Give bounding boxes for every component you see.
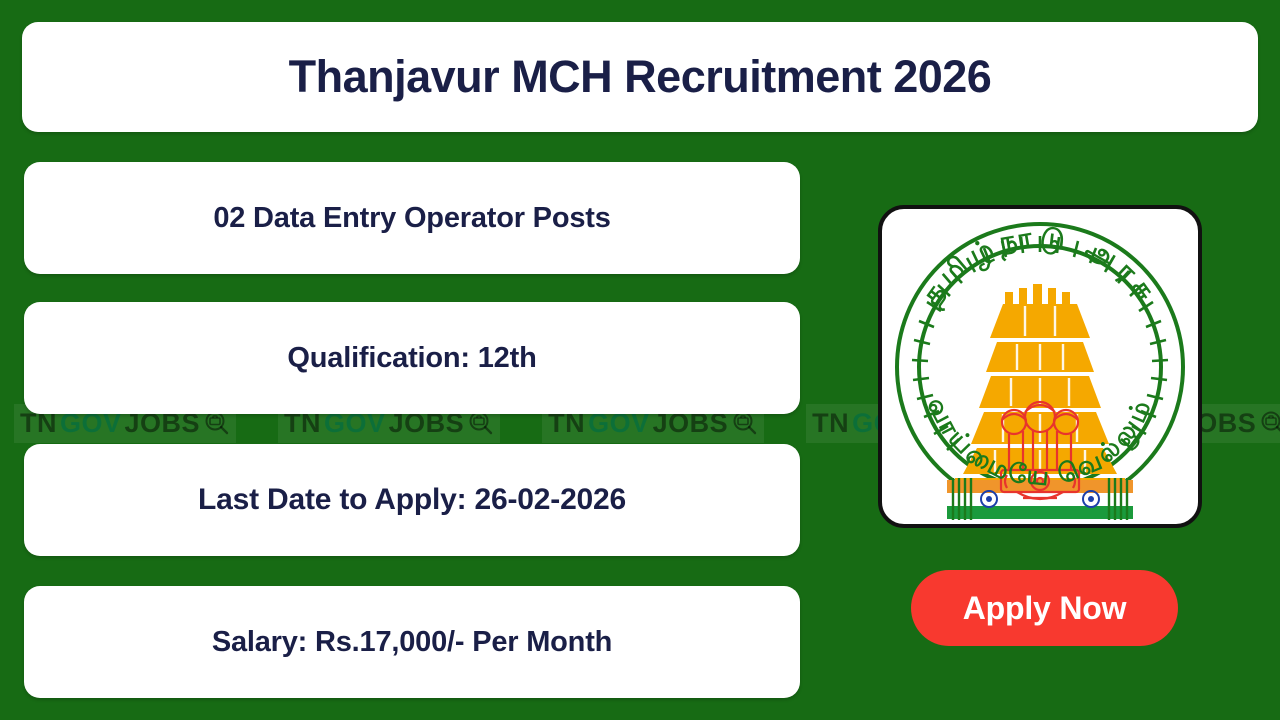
info-card-qualification-label: Qualification: 12th — [271, 342, 552, 375]
title-card: Thanjavur MCH Recruitment 2026 — [22, 22, 1258, 132]
watermark-tn: TN — [812, 408, 849, 439]
info-card-last-date: Last Date to Apply: 26-02-2026 — [24, 444, 800, 556]
tamil-nadu-government-emblem-icon: தமிழ்நாடு அரசு வாய்மையே வெல்லும் — [885, 212, 1195, 522]
info-card-salary-label: Salary: Rs.17,000/- Per Month — [196, 626, 628, 659]
tamil-nadu-emblem-box: தமிழ்நாடு அரசு வாய்மையே வெல்லும் — [878, 205, 1202, 528]
info-card-posts-label: 02 Data Entry Operator Posts — [197, 202, 626, 235]
info-card-salary: Salary: Rs.17,000/- Per Month — [24, 586, 800, 698]
info-card-posts: 02 Data Entry Operator Posts — [24, 162, 800, 274]
page-title: Thanjavur MCH Recruitment 2026 — [289, 51, 992, 103]
info-card-last-date-label: Last Date to Apply: 26-02-2026 — [182, 483, 642, 517]
briefcase-search-icon — [1260, 410, 1280, 436]
apply-now-button[interactable]: Apply Now — [911, 570, 1178, 646]
recruitment-poster: Thanjavur MCH Recruitment 2026 02 Data E… — [0, 0, 1280, 720]
info-card-qualification: Qualification: 12th — [24, 302, 800, 414]
